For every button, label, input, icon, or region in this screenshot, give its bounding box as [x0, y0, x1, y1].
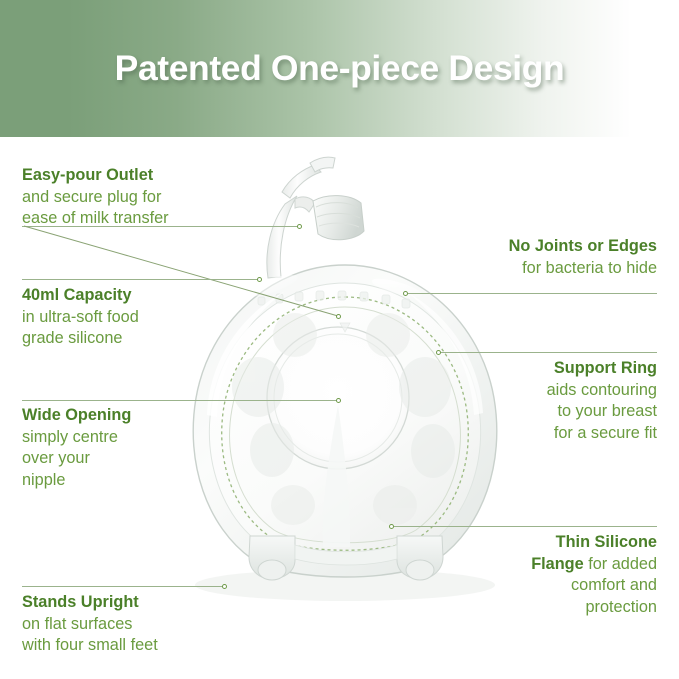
callout-body-thin-flange-3: protection: [585, 598, 657, 616]
callout-body-thin-flange-1: for added: [584, 555, 657, 573]
leader-dot-easy-pour: [297, 224, 302, 229]
callout-body-easy-pour-1: and secure plug for: [22, 188, 161, 206]
callout-body-support-ring-2: to your breast: [557, 402, 657, 420]
leader-line-capacity: [22, 279, 258, 280]
leader-dot-capacity: [257, 277, 262, 282]
callout-title-support-ring: Support Ring: [554, 359, 657, 377]
callout-no-joints-or-edges: No Joints or Edges for bacteria to hide: [430, 236, 657, 279]
leader-dot-support-ring: [436, 350, 441, 355]
leader-dot-thin-flange: [389, 524, 394, 529]
callout-body-capacity-2: grade silicone: [22, 329, 122, 347]
callout-title-capacity: 40ml Capacity: [22, 286, 132, 304]
leader-dot-no-joints: [403, 291, 408, 296]
callout-body-capacity-1: in ultra-soft food: [22, 308, 139, 326]
leader-line-wide-opening: [22, 400, 337, 401]
callout-body-wide-opening-1: simply centre: [22, 428, 118, 446]
callout-easy-pour-outlet: Easy-pour Outlet and secure plug for eas…: [22, 165, 252, 230]
leader-dot-easy-pour-shell: [336, 314, 341, 319]
callout-title-thin-flange-2: Flange: [531, 555, 583, 573]
callout-body-support-ring-1: aids contouring: [547, 381, 657, 399]
callout-title-wide-opening: Wide Opening: [22, 406, 131, 424]
leader-line-no-joints: [408, 293, 657, 294]
callout-body-wide-opening-3: nipple: [22, 471, 65, 489]
callout-title-no-joints: No Joints or Edges: [509, 237, 657, 255]
callout-title-thin-flange-1: Thin Silicone: [556, 533, 657, 551]
leader-dot-stands-upright: [222, 584, 227, 589]
callout-body-wide-opening-2: over your: [22, 449, 90, 467]
leader-dot-wide-opening: [336, 398, 341, 403]
callout-body-thin-flange-2: comfort and: [571, 576, 657, 594]
leader-line-thin-flange: [394, 526, 657, 527]
callout-body-stands-upright-1: on flat surfaces: [22, 615, 132, 633]
callout-body-support-ring-3: for a secure fit: [554, 424, 657, 442]
callout-body-no-joints-1: for bacteria to hide: [522, 259, 657, 277]
callout-thin-silicone-flange: Thin Silicone Flange for added comfort a…: [410, 532, 657, 618]
leader-line-stands-upright: [22, 586, 223, 587]
callout-title-easy-pour: Easy-pour Outlet: [22, 166, 153, 184]
callout-body-stands-upright-2: with four small feet: [22, 636, 158, 654]
callout-stands-upright: Stands Upright on flat surfaces with fou…: [22, 592, 262, 657]
leader-line-support-ring: [441, 352, 657, 353]
callout-wide-opening: Wide Opening simply centre over your nip…: [22, 405, 252, 491]
callout-body-easy-pour-2: ease of milk transfer: [22, 209, 169, 227]
header-banner: Patented One-piece Design: [0, 0, 679, 137]
callout-40ml-capacity: 40ml Capacity in ultra-soft food grade s…: [22, 285, 252, 350]
secure-plug: [295, 196, 364, 240]
infographic-page: Patented One-piece Design: [0, 0, 679, 679]
callout-support-ring: Support Ring aids contouring to your bre…: [420, 358, 657, 444]
callout-title-stands-upright: Stands Upright: [22, 593, 139, 611]
page-title: Patented One-piece Design: [0, 0, 679, 137]
